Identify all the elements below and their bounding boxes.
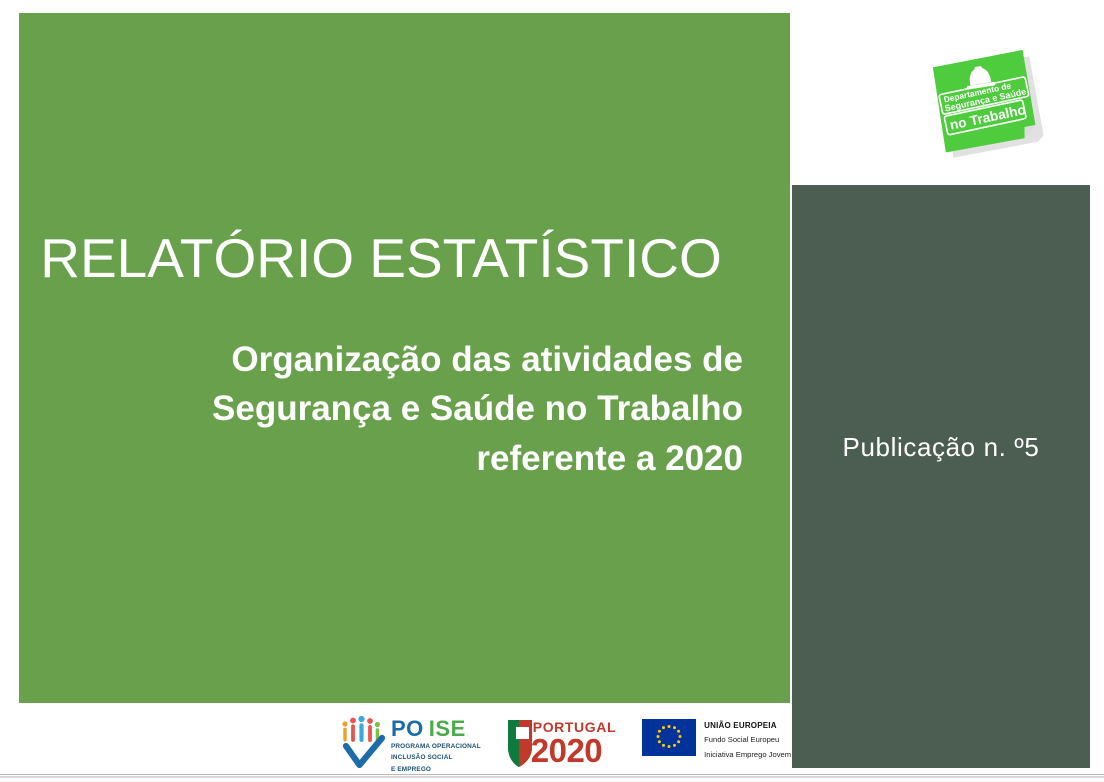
po-ise-wordmark: POISE: [391, 718, 481, 740]
portugal-2020-number: 2020: [531, 735, 616, 767]
po-ise-word-po: PO: [391, 716, 424, 741]
po-ise-subline-2: INCLUSÃO SOCIAL: [391, 754, 481, 762]
subtitle-line-3: referente a 2020: [19, 434, 743, 484]
page-subtitle: Organização das atividades de Segurança …: [19, 289, 743, 484]
po-ise-word-ise: ISE: [429, 716, 466, 741]
subtitle-line-1: Organização das atividades de: [19, 335, 743, 385]
title-block: RELATÓRIO ESTATÍSTICO Organização das at…: [19, 228, 771, 484]
po-ise-subline-1: PROGRAMA OPERACIONAL: [391, 743, 481, 751]
report-cover-page: RELATÓRIO ESTATÍSTICO Organização das at…: [0, 0, 1104, 782]
eu-subline-2: Iniciativa Emprego Jovem: [704, 749, 791, 761]
portugal-2020-logo: PORTUGAL 2020: [507, 715, 616, 771]
page-title: RELATÓRIO ESTATÍSTICO: [19, 228, 743, 289]
european-union-logo: UNIÃO EUROPEIA Fundo Social Europeu Inic…: [642, 715, 791, 771]
po-ise-people-check-icon: [340, 715, 386, 769]
eu-text: UNIÃO EUROPEIA Fundo Social Europeu Inic…: [704, 715, 791, 761]
po-ise-logo: POISE PROGRAMA OPERACIONAL INCLUSÃO SOCI…: [340, 715, 481, 771]
publication-number-label: Publicação n. º5: [792, 432, 1090, 463]
portugal-2020-text: PORTUGAL 2020: [531, 720, 616, 767]
subtitle-line-2: Segurança e Saúde no Trabalho: [19, 384, 743, 434]
publication-panel: Publicação n. º5: [792, 185, 1090, 768]
funding-logo-strip: POISE PROGRAMA OPERACIONAL INCLUSÃO SOCI…: [340, 712, 770, 774]
po-ise-subline-3: E EMPREGO: [391, 766, 481, 774]
po-ise-text: POISE PROGRAMA OPERACIONAL INCLUSÃO SOCI…: [391, 715, 481, 774]
eu-subline-1: Fundo Social Europeu: [704, 734, 791, 746]
page-bottom-rule-shadow: [0, 776, 1104, 778]
eu-title: UNIÃO EUROPEIA: [704, 721, 791, 731]
eu-flag-icon: [642, 719, 696, 756]
page-bottom-rule: [0, 774, 1104, 775]
department-logo: Departamento de Segurança e Saúde no Tra…: [925, 50, 1048, 158]
